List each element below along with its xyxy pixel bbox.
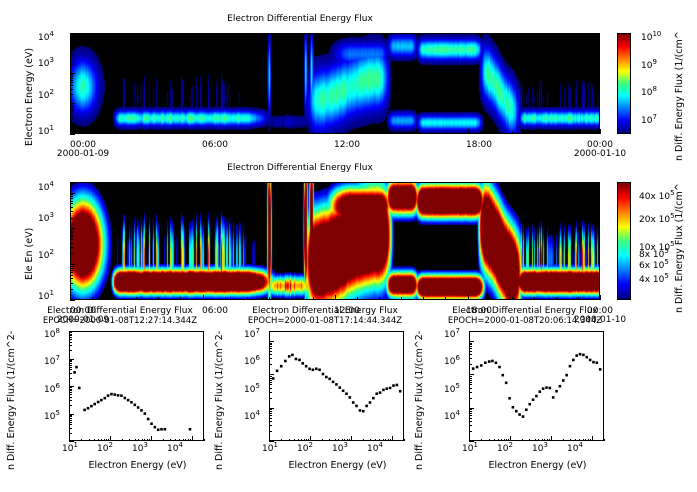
bl-xtick-0: 101	[62, 444, 78, 454]
mid-cbar-tick-1: 20x 105	[639, 215, 675, 225]
bm-xtick-0: 101	[262, 444, 278, 454]
bm-ytick-0: 107	[244, 330, 260, 340]
bm-xtick-2: 103	[332, 444, 348, 454]
top-xtick-0-date: 2000-01-09	[53, 149, 113, 159]
mid-cbar-tick-0: 40x 105	[639, 192, 675, 202]
top-cbar-tick-1: 109	[641, 61, 657, 71]
top-ytick-2: 102	[38, 91, 54, 101]
top-spectrogram-plot	[70, 33, 600, 134]
top-ytick-1: 103	[38, 59, 54, 69]
mid-ytick-1: 103	[38, 214, 54, 224]
br-xtick-3: 104	[567, 444, 583, 454]
mid-spectrogram-plot	[70, 182, 600, 300]
top-cbar-tick-0: 1010	[641, 33, 661, 43]
mid-ytick-3: 101	[38, 292, 54, 302]
br-panel-xlabel: Electron Energy (eV)	[460, 460, 615, 471]
bm-xtick-3: 104	[367, 444, 383, 454]
br-scatter-plot	[469, 331, 604, 441]
mid-colorbar	[617, 182, 631, 300]
br-xtick-1: 102	[497, 444, 513, 454]
bl-ytick-3: 105	[44, 412, 60, 422]
br-panel-ylabel: n Diff. Energy Flux (1/(cm^2-	[414, 330, 425, 470]
top-panel-ylabel: Electron Energy (eV)	[24, 26, 35, 146]
br-ytick-3: 104	[444, 412, 460, 422]
mid-cbar-tick-4: 6x 105	[639, 261, 669, 271]
br-ytick-2: 105	[444, 385, 460, 395]
bl-ytick-2: 106	[44, 385, 60, 395]
bm-panel-ylabel: n Diff. Energy Flux (1/(cm^2-	[214, 330, 225, 470]
axis-tick	[604, 439, 605, 442]
bl-xtick-1: 102	[97, 444, 113, 454]
bm-panel-xlabel: Electron Energy (eV)	[260, 460, 415, 471]
bm-ytick-3: 104	[244, 412, 260, 422]
top-ytick-0: 104	[38, 33, 54, 43]
top-cbar-tick-3: 107	[641, 116, 657, 126]
figure-root: Electron Differential Energy Flux Electr…	[0, 0, 697, 492]
br-panel-title: Electron Differential Energy Flux	[425, 306, 625, 316]
axis-tick	[70, 300, 75, 301]
br-ytick-0: 107	[444, 330, 460, 340]
mid-panel-ylabel: Ele En (eV)	[24, 200, 35, 280]
bl-panel-epoch: EPOCH=2000-01-08T12:27:14.344Z	[30, 316, 210, 326]
bl-ytick-0: 108	[44, 330, 60, 340]
bm-scatter-plot	[269, 331, 404, 441]
top-xtick-3: 18:00	[449, 140, 509, 150]
mid-colorbar-label: n Diff. Energy Flux (1/(cm^	[674, 178, 685, 313]
bl-xtick-3: 104	[167, 444, 183, 454]
mid-panel-title: Electron Differential Energy Flux	[0, 163, 600, 173]
bm-panel-title: Electron Differential Energy Flux	[225, 306, 425, 316]
bm-ytick-1: 106	[244, 357, 260, 367]
axis-tick	[600, 295, 601, 300]
top-xtick-2: 12:00	[317, 140, 377, 150]
bm-ytick-2: 105	[244, 385, 260, 395]
bl-panel-title: Electron Differential Energy Flux	[30, 306, 210, 316]
mid-ytick-2: 102	[38, 251, 54, 261]
top-xtick-4-date: 2000-01-10	[570, 149, 630, 159]
bl-panel-ylabel: n Diff. Energy Flux (1/(cm^2-	[6, 330, 17, 470]
br-xtick-0: 101	[462, 444, 478, 454]
top-xtick-1: 06:00	[185, 140, 245, 150]
bl-xtick-2: 103	[132, 444, 148, 454]
bl-panel-xlabel: Electron Energy (eV)	[60, 460, 215, 471]
axis-tick	[204, 439, 205, 442]
bl-ytick-1: 107	[44, 357, 60, 367]
br-panel-epoch: EPOCH=2000-01-08T20:06:14.344Z	[425, 316, 625, 326]
axis-tick	[600, 129, 601, 134]
top-cbar-tick-2: 108	[641, 88, 657, 98]
bm-panel-epoch: EPOCH=2000-01-08T17:14:44.344Z	[225, 316, 425, 326]
top-panel-title: Electron Differential Energy Flux	[0, 14, 600, 24]
top-ytick-3: 101	[38, 127, 54, 137]
axis-tick	[404, 439, 405, 442]
bl-scatter-plot	[69, 331, 204, 441]
axis-tick	[70, 134, 75, 135]
br-ytick-1: 106	[444, 357, 460, 367]
top-colorbar	[617, 33, 631, 134]
mid-cbar-tick-5: 4x 105	[639, 275, 669, 285]
bm-xtick-1: 102	[297, 444, 313, 454]
mid-ytick-0: 104	[38, 183, 54, 193]
top-colorbar-label: n Diff. Energy Flux (1/(cm^	[674, 26, 685, 161]
br-xtick-2: 103	[532, 444, 548, 454]
